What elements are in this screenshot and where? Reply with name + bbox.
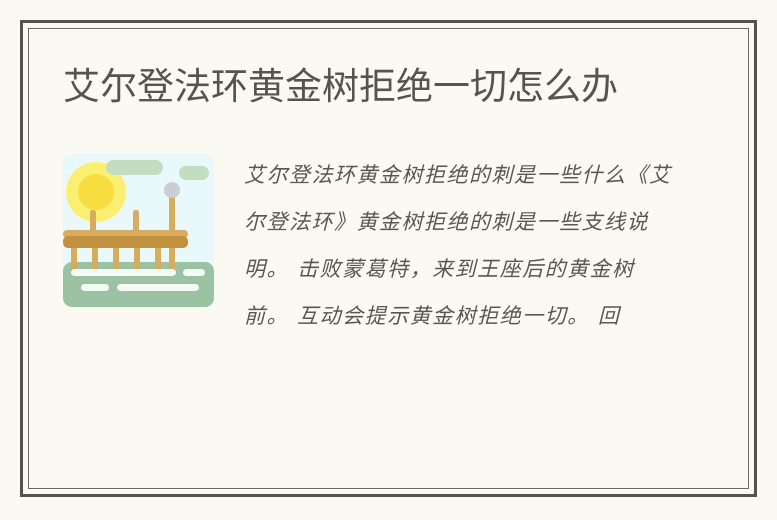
content-area: 艾尔登法环黄金树拒绝一切怎么办 <box>29 29 748 488</box>
cloud-shape <box>179 166 209 180</box>
article-body-text: 艾尔登法环黄金树拒绝的刺是一些什么《艾尔登法环》黄金树拒绝的刺是一些支线说明。 … <box>244 152 674 340</box>
dock-deck-shape <box>63 236 188 248</box>
sun-core-icon <box>78 174 114 210</box>
lamp-head-icon <box>164 182 180 198</box>
pier-illustration-icon <box>61 152 216 307</box>
outer-border-frame: 艾尔登法环黄金树拒绝一切怎么办 <box>20 20 757 497</box>
inner-border-frame: 艾尔登法环黄金树拒绝一切怎么办 <box>28 28 749 489</box>
cloud-shape <box>106 160 163 175</box>
page-title: 艾尔登法环黄金树拒绝一切怎么办 <box>61 59 663 114</box>
page-root: 艾尔登法环黄金树拒绝一切怎么办 <box>0 0 777 520</box>
article-thumbnail <box>61 152 216 307</box>
article-block: 艾尔登法环黄金树拒绝的刺是一些什么《艾尔登法环》黄金树拒绝的刺是一些支线说明。 … <box>61 152 716 340</box>
